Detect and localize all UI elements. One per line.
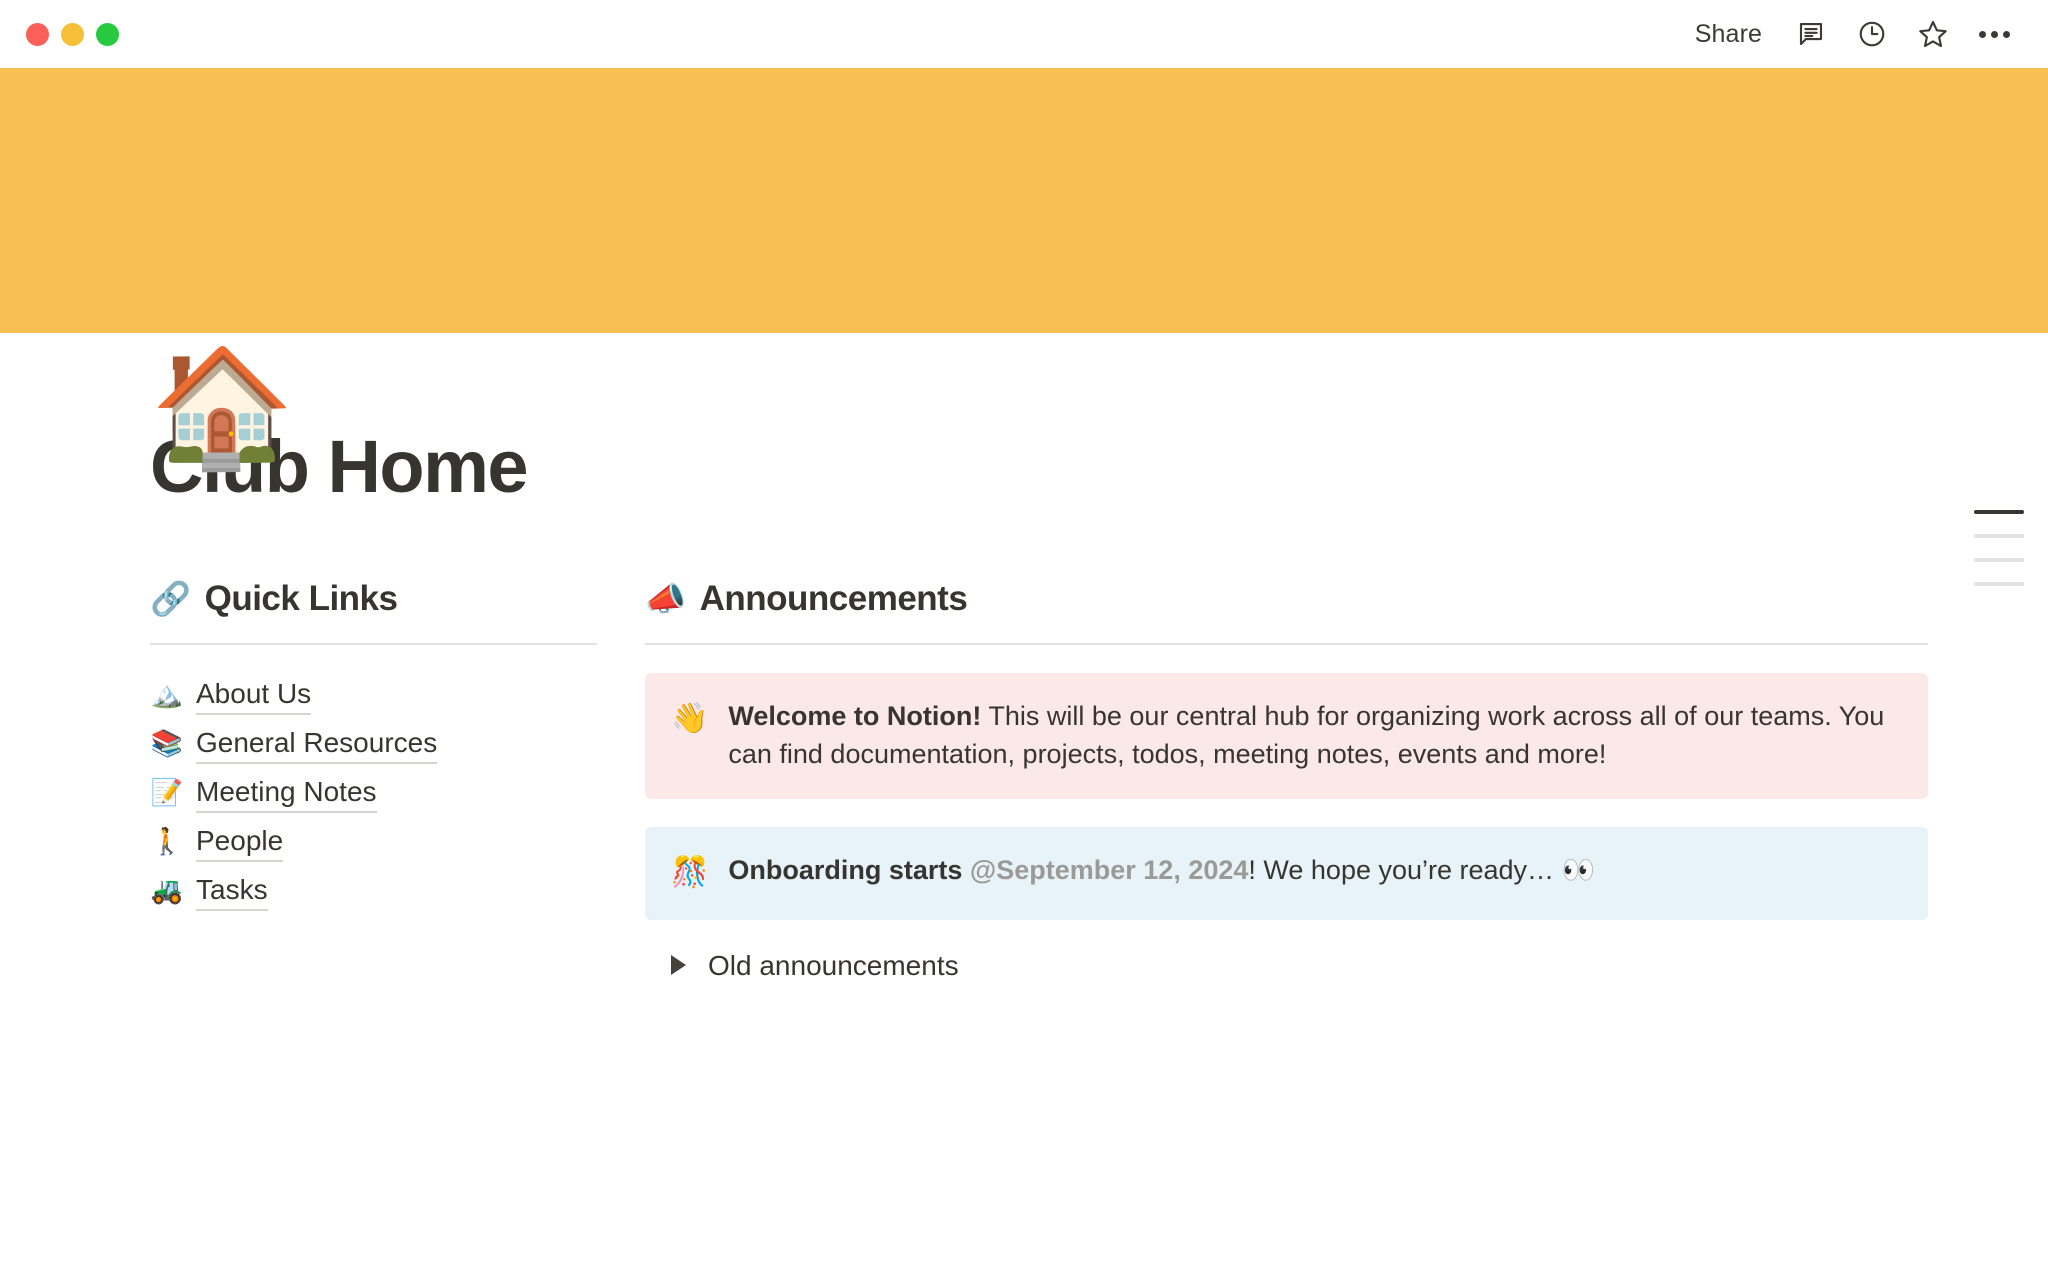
- quick-link-tasks[interactable]: 🚜 Tasks: [150, 867, 597, 916]
- table-of-contents-minimap: [1956, 510, 2024, 586]
- callout-onboarding-bold: Onboarding starts: [728, 855, 962, 885]
- toc-bar-3[interactable]: [1974, 558, 2024, 562]
- app-window: Share: [0, 0, 2048, 1280]
- confetti-ball-icon: 🎊: [671, 851, 708, 894]
- history-clock-icon[interactable]: [1854, 16, 1890, 52]
- window-titlebar: Share: [0, 0, 2048, 68]
- share-button[interactable]: Share: [1689, 16, 1768, 53]
- announcements-divider: [645, 643, 1928, 645]
- waving-hand-icon: 👋: [671, 697, 708, 740]
- announcements-heading-text: Announcements: [700, 578, 968, 620]
- quick-link-general-resources[interactable]: 📚 General Resources: [150, 720, 597, 769]
- quick-links-heading: 🔗 Quick Links: [150, 578, 597, 620]
- maximize-window-button[interactable]: [96, 23, 119, 46]
- toc-bar-2[interactable]: [1974, 534, 2024, 538]
- mountain-icon: 🏔️: [150, 682, 184, 708]
- page-content: 🏠 Club Home 🔗 Quick Links 🏔️ About Us 📚: [0, 428, 2048, 983]
- quick-link-label[interactable]: Meeting Notes: [196, 774, 377, 813]
- quick-link-people[interactable]: 🚶 People: [150, 818, 597, 867]
- callout-welcome[interactable]: 👋 Welcome to Notion! This will be our ce…: [645, 673, 1928, 800]
- quick-link-label[interactable]: About Us: [196, 676, 311, 715]
- callout-onboarding-body[interactable]: Onboarding starts @September 12, 2024! W…: [728, 851, 1595, 889]
- megaphone-icon: 📣: [645, 582, 686, 615]
- callout-onboarding[interactable]: 🎊 Onboarding starts @September 12, 2024!…: [645, 827, 1928, 920]
- page-icon-house[interactable]: 🏠: [150, 345, 275, 470]
- quick-link-label[interactable]: General Resources: [196, 725, 437, 764]
- books-icon: 📚: [150, 731, 184, 757]
- page-cover-image[interactable]: [0, 68, 2048, 333]
- quick-link-label[interactable]: People: [196, 823, 283, 862]
- toggle-old-announcements-label[interactable]: Old announcements: [708, 948, 959, 983]
- callout-welcome-body[interactable]: Welcome to Notion! This will be our cent…: [728, 697, 1900, 774]
- walking-person-icon: 🚶: [150, 829, 184, 855]
- comment-icon[interactable]: [1793, 16, 1829, 52]
- quick-link-about-us[interactable]: 🏔️ About Us: [150, 671, 597, 720]
- memo-icon: 📝: [150, 780, 184, 806]
- more-options-icon[interactable]: [1976, 16, 2012, 52]
- toc-bar-active[interactable]: [1974, 510, 2024, 514]
- chevron-right-icon[interactable]: [671, 955, 686, 975]
- date-mention[interactable]: @September 12, 2024: [970, 855, 1248, 885]
- favorite-star-icon[interactable]: [1915, 16, 1951, 52]
- quick-links-heading-text: Quick Links: [205, 578, 398, 620]
- toc-bar-4[interactable]: [1974, 582, 2024, 586]
- announcements-heading: 📣 Announcements: [645, 578, 1928, 620]
- close-window-button[interactable]: [26, 23, 49, 46]
- quick-link-meeting-notes[interactable]: 📝 Meeting Notes: [150, 769, 597, 818]
- window-controls: [26, 23, 119, 46]
- toggle-old-announcements[interactable]: Old announcements: [645, 948, 1928, 983]
- minimize-window-button[interactable]: [61, 23, 84, 46]
- announcements-column: 📣 Announcements 👋 Welcome to Notion! Thi…: [597, 578, 1928, 983]
- quick-links-divider: [150, 643, 597, 645]
- callout-onboarding-rest: ! We hope you’re ready… 👀: [1248, 855, 1595, 885]
- quick-link-label[interactable]: Tasks: [196, 872, 268, 911]
- page-title[interactable]: Club Home: [150, 428, 1928, 506]
- titlebar-actions: Share: [1689, 16, 2020, 53]
- link-chain-icon: 🔗: [150, 582, 191, 615]
- callout-welcome-bold: Welcome to Notion!: [728, 701, 981, 731]
- quick-links-list: 🏔️ About Us 📚 General Resources 📝 Meetin…: [150, 671, 597, 916]
- two-column-layout: 🔗 Quick Links 🏔️ About Us 📚 General Reso…: [150, 578, 1928, 983]
- quick-links-column: 🔗 Quick Links 🏔️ About Us 📚 General Reso…: [150, 578, 597, 983]
- tractor-icon: 🚜: [150, 878, 184, 904]
